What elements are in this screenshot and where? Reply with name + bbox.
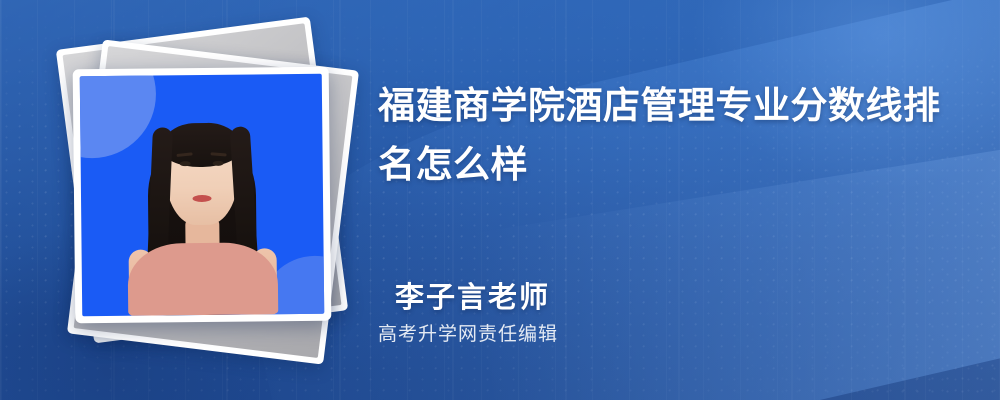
article-cover-banner: 福建商学院酒店管理专业分数线排名怎么样 李子言老师 高考升学网责任编辑 [0, 0, 1000, 400]
portrait-eye-left [180, 161, 191, 166]
text-column: 福建商学院酒店管理专业分数线排名怎么样 李子言老师 高考升学网责任编辑 [378, 0, 978, 400]
author-byline: 高考升学网责任编辑 [378, 319, 558, 346]
portrait-eye-right [213, 160, 224, 165]
author-name: 李子言老师 [395, 274, 550, 316]
portrait-brow-right [210, 152, 226, 156]
portrait-bangs [161, 122, 241, 167]
portrait-dress [128, 242, 279, 316]
editor-photo [80, 74, 324, 317]
editor-photo-frame [73, 67, 332, 324]
photo-stack [48, 28, 348, 348]
portrait-illustration [80, 107, 324, 316]
article-title: 福建商学院酒店管理专业分数线排名怎么样 [378, 76, 963, 194]
